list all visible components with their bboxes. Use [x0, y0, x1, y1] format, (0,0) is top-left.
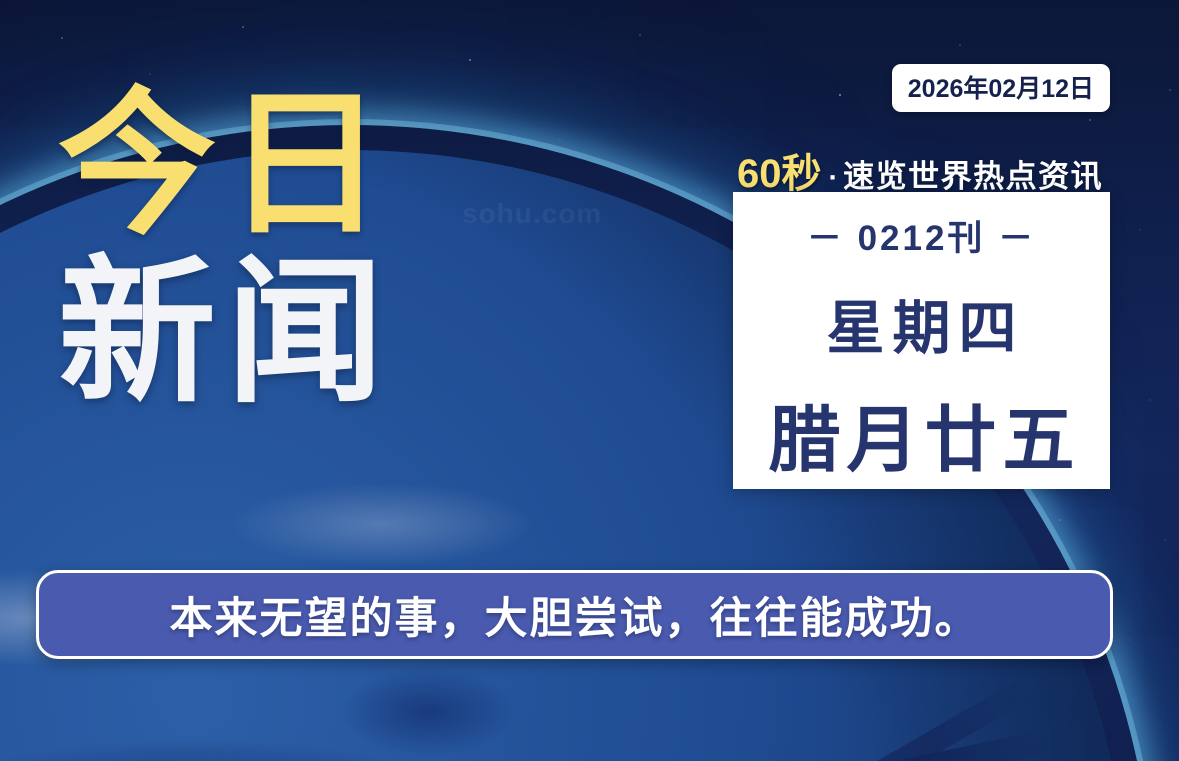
tagline: 60秒 · 速览世界热点资讯 [737, 141, 1103, 199]
weekday-label: 星期四 [818, 281, 1024, 365]
date-info-card: － 0212刊 － 星期四 腊月廿五 [733, 192, 1110, 489]
poster-title: 今日 新闻 [58, 86, 478, 412]
lunar-date-label: 腊月廿五 [762, 381, 1080, 486]
watermark: sohu.com [462, 198, 602, 230]
title-line-xinwen: 新闻 [58, 254, 478, 412]
tagline-duration: 60秒 [737, 141, 822, 199]
news-poster: sohu.com 今日 新闻 2026年02月12日 60秒 · 速览世界热点资… [0, 0, 1179, 761]
tagline-description: 速览世界热点资讯 [843, 151, 1103, 196]
issue-number: － 0212刊 － [807, 210, 1036, 261]
quote-banner: 本来无望的事，大胆尝试，往往能成功。 [36, 570, 1113, 659]
title-line-jinri: 今日 [58, 86, 478, 244]
tagline-separator-icon: · [829, 162, 839, 195]
quote-text: 本来无望的事，大胆尝试，往往能成功。 [170, 584, 980, 646]
date-badge: 2026年02月12日 [892, 64, 1110, 112]
